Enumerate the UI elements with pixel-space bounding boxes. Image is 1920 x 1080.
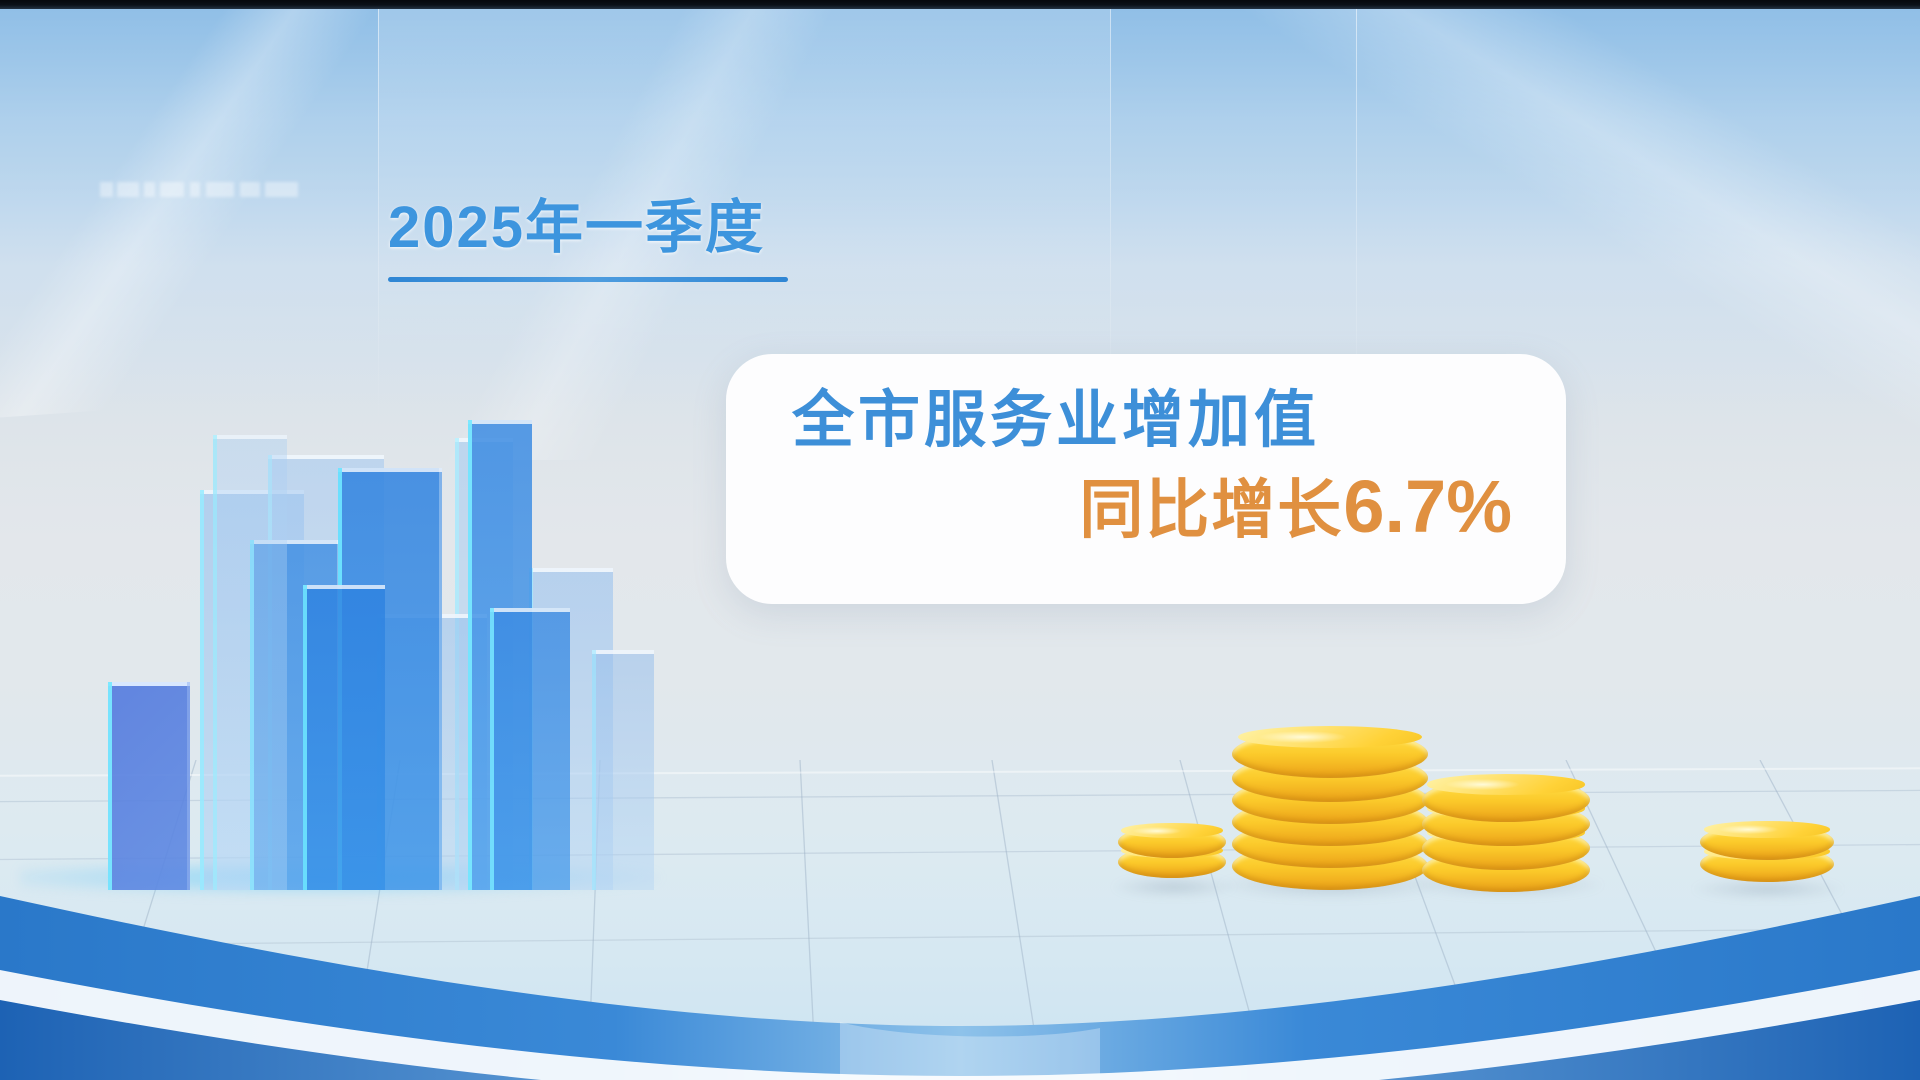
coin-stack-small-left xyxy=(1118,818,1226,890)
bar-b6 xyxy=(303,585,385,890)
coin-stack-medium xyxy=(1422,772,1590,894)
headline-card: 全市服务业增加值 同比增长6.7% xyxy=(726,354,1566,604)
broadcast-graphic-stage: 2025年一季度 全市服务业增加值 同比增长6.7% xyxy=(0,0,1920,1080)
period-title: 2025年一季度 xyxy=(388,198,788,259)
headline-metric-label: 全市服务业增加值 xyxy=(770,384,1522,457)
coin-stack-tall xyxy=(1232,728,1428,894)
bar-b1 xyxy=(108,682,190,890)
station-logo-watermark xyxy=(100,178,300,202)
bar-b11 xyxy=(490,608,570,890)
bar-b12 xyxy=(592,650,654,890)
growth-unit: % xyxy=(1446,465,1512,548)
top-letterbox-bar xyxy=(0,0,1920,9)
period-title-underline xyxy=(388,277,788,282)
period-title-block: 2025年一季度 xyxy=(388,198,788,282)
bar-b13 xyxy=(213,435,287,890)
background-panel-tint xyxy=(378,0,1110,380)
headline-growth-line: 同比增长6.7% xyxy=(770,463,1522,550)
growth-value: 6.7 xyxy=(1343,465,1446,548)
growth-prefix-label: 同比增长 xyxy=(1079,474,1343,546)
decorative-bar-chart xyxy=(0,330,700,890)
coin-stack-small-right xyxy=(1700,818,1834,892)
